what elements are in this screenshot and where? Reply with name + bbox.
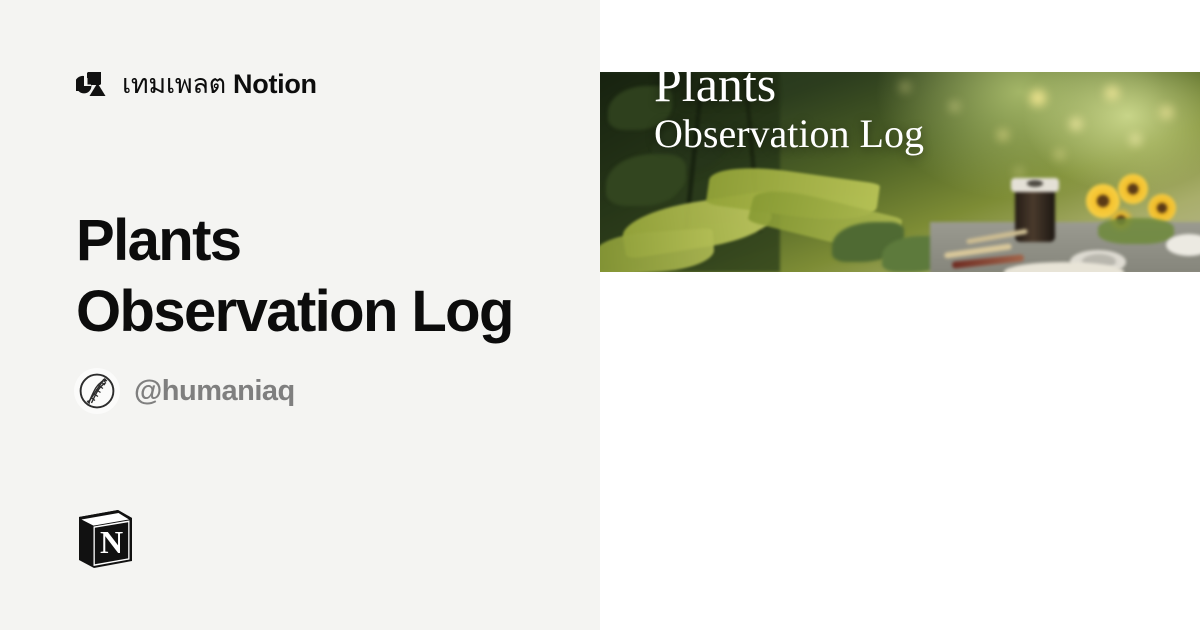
cover-title-line-2: Observation Log <box>654 113 1084 155</box>
avatar <box>74 368 120 414</box>
brand-thai-label: เทมเพลต <box>122 69 226 99</box>
left-info-panel: เทมเพลต Notion Plants Observation Log <box>0 0 600 630</box>
abstract-shapes-logo-icon <box>76 69 108 99</box>
page-title: Plants Observation Log <box>76 205 596 348</box>
author-handle: @humaniaq <box>134 375 295 408</box>
cover-image: Plants Observation Log <box>600 72 1200 272</box>
page-title-line-2: Observation Log <box>76 279 513 344</box>
author-row: @humaniaq <box>74 368 295 414</box>
notion-cube-logo-icon: N <box>74 505 136 571</box>
cover-title-line-1: Plants <box>654 72 776 112</box>
notion-page-preview: Plants Observation Log <box>600 0 1200 630</box>
cover-title: Plants Observation Log <box>654 72 1084 155</box>
notion-document: Plants Observation Log <box>600 0 1200 630</box>
brand-product-label: Notion <box>233 69 317 99</box>
brand-header: เทมเพลต Notion <box>76 62 317 105</box>
notion-logo-letter: N <box>100 524 123 560</box>
page-title-line-1: Plants <box>76 208 240 273</box>
template-promo-card: เทมเพลต Notion Plants Observation Log <box>0 0 1200 630</box>
brand-label: เทมเพลต Notion <box>122 62 317 105</box>
